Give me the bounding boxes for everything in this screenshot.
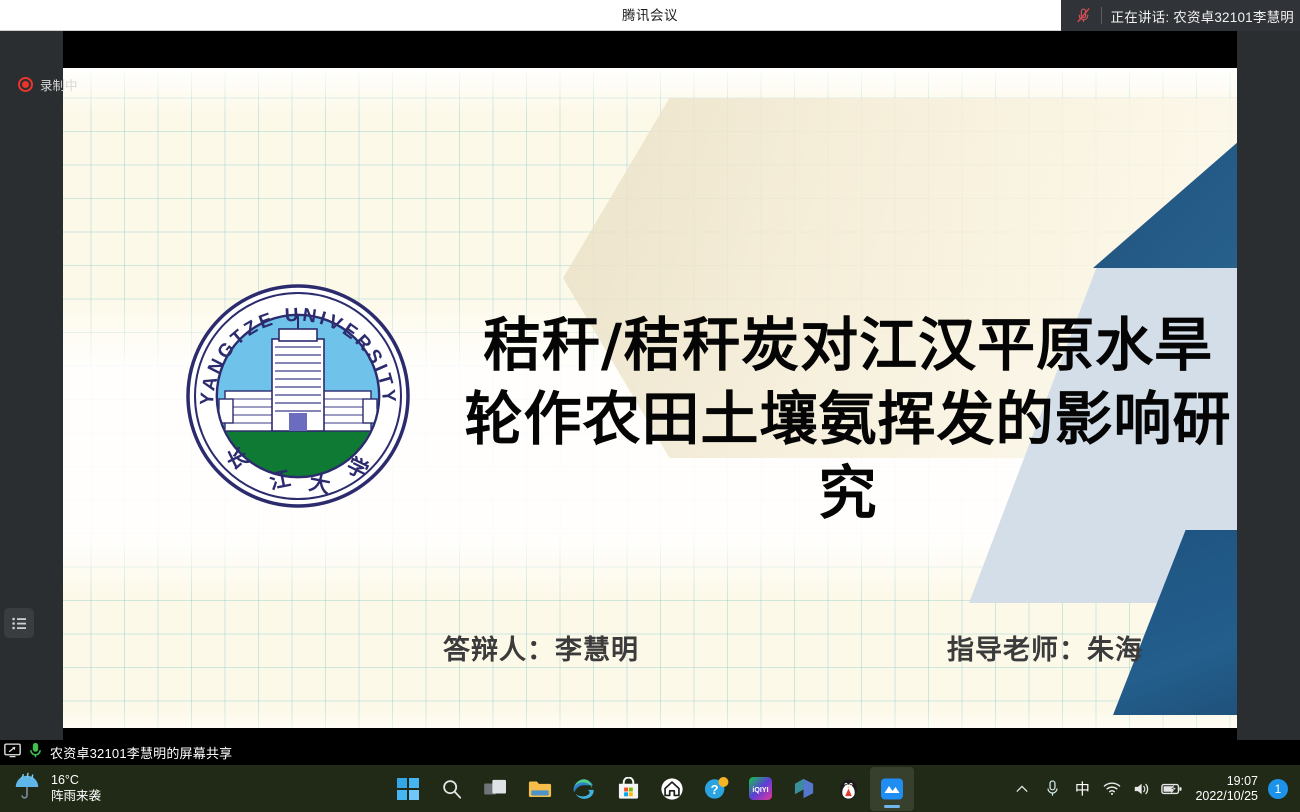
recording-label: 录制中 [40,75,78,94]
share-status-bar: 农资卓32101李慧明的屏幕共享 [0,740,1300,765]
left-rail [0,31,63,766]
weather-description: 阵雨来袭 [51,789,101,804]
ime-indicator[interactable]: 中 [1067,767,1097,811]
office-diamond-icon [793,777,816,800]
windows-taskbar: 16°C 阵雨来袭 [0,765,1300,812]
desktop-root: 腾讯会议 正在讲话: 农资卓32101李慧明 [0,0,1300,812]
record-dot-icon [18,77,33,92]
clock-date: 2022/10/25 [1195,789,1258,804]
tencent-meeting-button[interactable] [870,767,914,811]
slide-presenter-row: 答辩人：李慧明 指导老师：朱海 [443,628,1143,667]
svg-text:iQIYI: iQIYI [752,786,768,794]
slide-presenter: 答辩人：李慧明 [443,628,639,667]
screen-share-stage: YANGTZE UNIVERSITY 长 江 大 学 秸秆/秸秆炭对江汉平原水旱… [0,31,1300,766]
active-speaker-label: 正在讲话: 农资卓32101李慧明 [1111,6,1294,26]
presentation-slide: YANGTZE UNIVERSITY 长 江 大 学 秸秆/秸秆炭对江汉平原水旱… [63,68,1237,728]
store-bag-icon [617,777,640,800]
list-menu-icon [12,617,27,630]
microsoft-store-button[interactable] [606,767,650,811]
edge-button[interactable] [562,767,606,811]
system-tray: 中 [1007,767,1292,811]
file-explorer-button[interactable] [518,767,562,811]
screen-share-icon [4,743,21,763]
svg-text:?: ? [710,782,718,797]
office-button[interactable] [782,767,826,811]
mic-muted-icon [1071,3,1097,29]
rain-umbrella-icon [12,771,42,806]
search-icon [441,778,463,800]
start-button[interactable] [386,767,430,811]
ime-label: 中 [1075,778,1090,799]
iqiyi-button[interactable]: iQIYI [738,767,782,811]
iqiyi-icon: iQIYI [749,777,772,800]
folder-icon [528,778,552,800]
task-view-icon [484,779,508,799]
speaker-divider [1101,7,1102,24]
taskbar-app-icons: ? iQIYI [386,767,914,811]
active-speaker-indicator: 正在讲话: 农资卓32101李慧明 [1061,0,1300,31]
university-logo: YANGTZE UNIVERSITY 长 江 大 学 [183,281,413,511]
help-button[interactable]: ? [694,767,738,811]
share-status-label: 农资卓32101李慧明的屏幕共享 [50,743,232,762]
svg-text:大: 大 [307,470,332,498]
windows-logo-icon [397,778,419,800]
qq-penguin-icon [837,776,860,801]
edge-browser-icon [572,777,596,801]
slide-list-menu-button[interactable] [4,608,34,638]
task-view-button[interactable] [474,767,518,811]
notification-badge[interactable]: 1 [1268,779,1288,799]
battery-charging-icon[interactable] [1157,767,1187,811]
qq-button[interactable] [826,767,870,811]
svg-text:江: 江 [267,466,292,494]
weather-temperature: 16°C [51,773,101,788]
clock-time: 19:07 [1227,774,1258,789]
search-button[interactable] [430,767,474,811]
microphone-icon[interactable] [1037,767,1067,811]
microphone-active-icon [29,742,42,763]
home-app-button[interactable] [650,767,694,811]
meeting-window-titlebar: 腾讯会议 正在讲话: 农资卓32101李慧明 [0,0,1300,31]
slide-advisor: 指导老师：朱海 [947,628,1143,667]
house-outline-icon [660,777,684,801]
chevron-up-icon[interactable] [1007,767,1037,811]
tencent-meeting-icon [879,776,905,802]
slide-title: 秸秆/秸秆炭对江汉平原水旱轮作农田土壤氨挥发的影响研究 [463,308,1233,531]
question-mark-icon: ? [704,776,729,801]
clock-widget[interactable]: 19:07 2022/10/25 [1195,774,1258,804]
weather-texts: 16°C 阵雨来袭 [51,773,101,804]
weather-widget[interactable]: 16°C 阵雨来袭 [12,771,172,806]
speaker-icon[interactable] [1127,767,1157,811]
recording-indicator: 录制中 [18,75,78,94]
wifi-icon[interactable] [1097,767,1127,811]
